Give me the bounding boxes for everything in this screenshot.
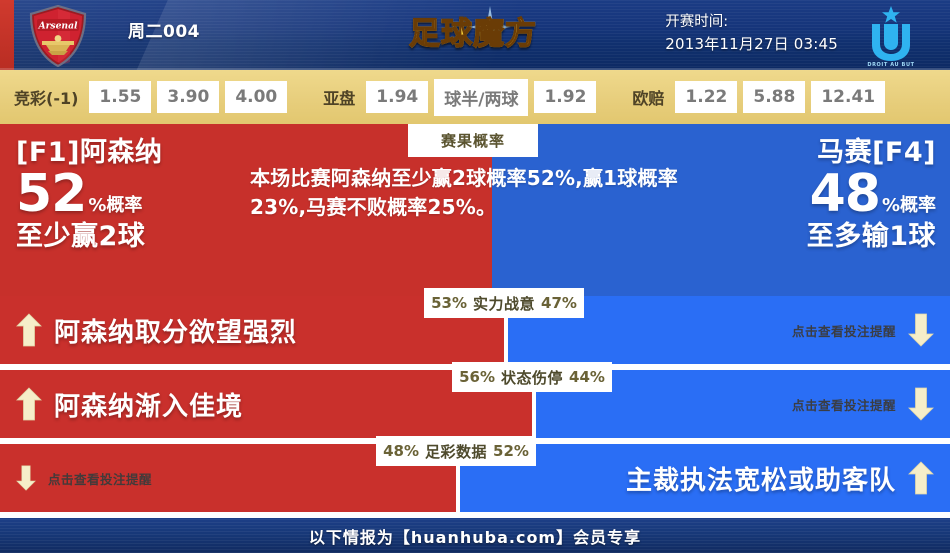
home-team-crest-arsenal: Arsenal <box>28 5 88 67</box>
result-probability-badge: 赛果概率 <box>408 124 538 157</box>
odds-group-oupei: 欧赔 1.22 5.88 12.41 <box>632 81 885 113</box>
comparison-left-percent: 53% <box>431 294 467 312</box>
site-brand-logo-text: 足球魔方 <box>409 19 537 50</box>
comparison-right-text: 主裁执法宽松或助客队 <box>626 460 896 497</box>
arrow-down-icon <box>16 465 36 491</box>
comparison-left-percent: 56% <box>459 368 495 386</box>
page-header: Arsenal 周二004 足球魔方 开赛时间: 2013年11月27日 03:… <box>0 0 950 70</box>
home-probability-value: 52 <box>16 169 86 220</box>
odds-cell[interactable]: 4.00 <box>225 81 287 113</box>
comparison-right-percent: 44% <box>569 368 605 386</box>
comparison-left-content[interactable]: 点击查看投注提醒 <box>16 444 152 512</box>
comparison-right-text: 点击查看投注提醒 <box>792 321 896 340</box>
odds-group-yapan: 亚盘 1.94 球半/两球 1.92 <box>323 79 596 116</box>
odds-cell[interactable]: 1.92 <box>534 81 596 113</box>
comparison-left-text: 点击查看投注提醒 <box>48 469 152 488</box>
comparison-badge: 53% 实力战意 47% <box>424 288 584 318</box>
away-crest-motto: DROIT AU BUT <box>867 62 914 68</box>
away-probability-row: 48 %概率 <box>807 169 936 220</box>
comparison-right-text: 点击查看投注提醒 <box>792 395 896 414</box>
comparison-row: 53% 实力战意 47% 阿森纳取分欲望强烈 点击查看投注提醒 <box>0 296 950 364</box>
arrow-down-icon <box>908 313 934 347</box>
footer-text: 以下情报为【huanhuba.com】会员专享 <box>309 524 641 548</box>
odds-cell[interactable]: 5.88 <box>743 81 805 113</box>
comparison-badge: 48% 足彩数据 52% <box>376 436 536 466</box>
odds-cell[interactable]: 12.41 <box>811 81 885 113</box>
comparison-right-content[interactable]: 点击查看投注提醒 <box>792 296 934 364</box>
infographic-root: Arsenal 周二004 足球魔方 开赛时间: 2013年11月27日 03:… <box>0 0 950 553</box>
result-probability-panel: 赛果概率 [F1]阿森纳 52 %概率 至少赢2球 马赛[F4] 48 %概率 … <box>0 124 950 296</box>
odds-cell-handicap[interactable]: 球半/两球 <box>434 79 528 116</box>
match-number: 周二004 <box>128 17 200 42</box>
comparison-right-content[interactable]: 主裁执法宽松或助客队 <box>626 444 934 512</box>
comparison-left-content[interactable]: 阿森纳取分欲望强烈 <box>16 296 297 364</box>
home-probability-row: 52 %概率 <box>16 169 162 220</box>
arrow-up-icon <box>16 387 42 421</box>
comparison-row: 48% 足彩数据 52% 点击查看投注提醒 主裁执法宽松或助客队 <box>0 444 950 512</box>
arrow-up-icon <box>16 313 42 347</box>
away-probability-value: 48 <box>810 169 880 220</box>
comparison-left-text: 阿森纳取分欲望强烈 <box>54 312 297 349</box>
comparison-label: 状态伤停 <box>501 367 563 388</box>
header-red-stripe <box>0 0 14 70</box>
odds-cell[interactable]: 1.22 <box>675 81 737 113</box>
comparison-left-content[interactable]: 阿森纳渐入佳境 <box>16 370 243 438</box>
comparison-rows: 53% 实力战意 47% 阿森纳取分欲望强烈 点击查看投注提醒 <box>0 296 950 518</box>
probability-home-block: [F1]阿森纳 52 %概率 至少赢2球 <box>16 138 162 251</box>
probability-away-block: 马赛[F4] 48 %概率 至多输1球 <box>807 138 936 251</box>
comparison-row: 56% 状态伤停 44% 阿森纳渐入佳境 点击查看投注提醒 <box>0 370 950 438</box>
odds-bar: 竞彩(-1) 1.55 3.90 4.00 亚盘 1.94 球半/两球 1.92… <box>0 70 950 124</box>
arrow-up-icon <box>908 461 934 495</box>
comparison-label: 实力战意 <box>473 293 535 314</box>
kickoff-label: 开赛时间: <box>665 11 838 33</box>
away-probability-outcome: 至多输1球 <box>807 222 936 252</box>
home-probability-outcome: 至少赢2球 <box>16 222 162 252</box>
comparison-badge: 56% 状态伤停 44% <box>452 362 612 392</box>
svg-text:Arsenal: Arsenal <box>37 20 78 31</box>
odds-group-jingcai: 竞彩(-1) 1.55 3.90 4.00 <box>14 81 287 113</box>
odds-cell[interactable]: 3.90 <box>157 81 219 113</box>
odds-cell[interactable]: 1.94 <box>366 81 428 113</box>
arrow-down-icon <box>908 387 934 421</box>
page-footer: 以下情报为【huanhuba.com】会员专享 <box>0 518 950 553</box>
away-probability-suffix: %概率 <box>882 197 936 215</box>
kickoff-value: 2013年11月27日 03:45 <box>665 33 838 56</box>
comparison-right-content[interactable]: 点击查看投注提醒 <box>792 370 934 438</box>
comparison-right-percent: 52% <box>493 442 529 460</box>
home-probability-suffix: %概率 <box>88 197 142 215</box>
header-divider <box>0 68 950 70</box>
odds-group-title: 竞彩(-1) <box>14 85 78 109</box>
probability-summary-text: 本场比赛阿森纳至少赢2球概率52%,赢1球概率23%,马赛不败概率25%。 <box>250 164 702 222</box>
comparison-left-percent: 48% <box>383 442 419 460</box>
comparison-label: 足彩数据 <box>425 441 487 462</box>
site-brand-logo[interactable]: 足球魔方 <box>409 8 537 60</box>
odds-cell[interactable]: 1.55 <box>89 81 151 113</box>
comparison-right-percent: 47% <box>541 294 577 312</box>
away-team-crest-marseille: DROIT AU BUT <box>854 4 928 68</box>
kickoff-time-block: 开赛时间: 2013年11月27日 03:45 <box>665 11 838 56</box>
comparison-left-text: 阿森纳渐入佳境 <box>54 386 243 423</box>
odds-group-title: 欧赔 <box>632 85 664 109</box>
odds-group-title: 亚盘 <box>323 85 355 109</box>
